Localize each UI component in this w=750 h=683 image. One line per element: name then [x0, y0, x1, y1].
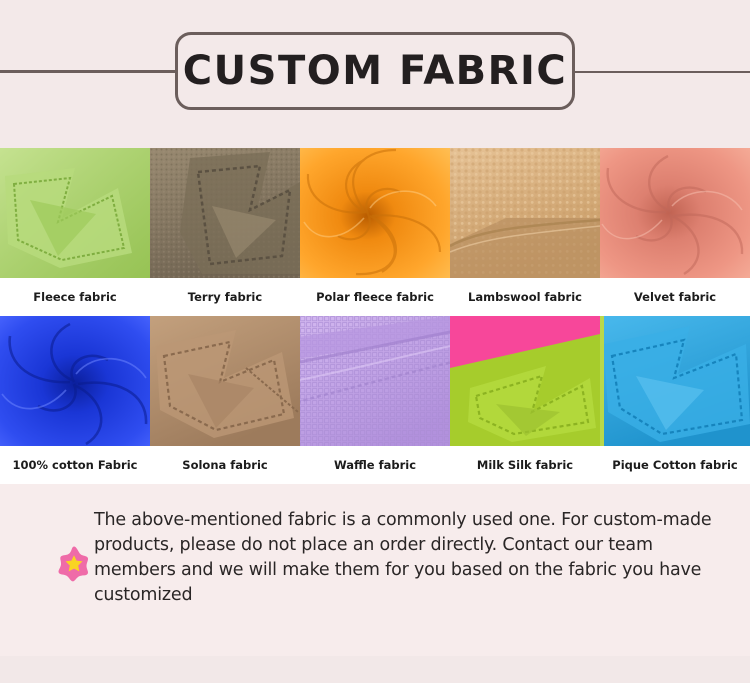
fabric-label: Solona fabric	[179, 459, 270, 472]
fabric-label: Fleece fabric	[30, 291, 119, 304]
fabric-caption: Pique Cotton fabric	[600, 446, 750, 484]
star-icon	[54, 544, 94, 584]
milk-silk-fabric-image	[450, 316, 600, 446]
fabric-cell-fleece[interactable]: Fleece fabric	[0, 148, 150, 316]
fabric-label: Pique Cotton fabric	[609, 459, 740, 472]
fabric-caption: Milk Silk fabric	[450, 446, 600, 484]
fabric-cell-cotton[interactable]: 100% cotton Fabric	[0, 316, 150, 484]
fabric-cell-waffle[interactable]: Waffle fabric	[300, 316, 450, 484]
fabric-cell-terry[interactable]: Terry fabric	[150, 148, 300, 316]
fabric-caption: Lambswool fabric	[450, 278, 600, 316]
fabric-cell-polar-fleece[interactable]: Polar fleece fabric	[300, 148, 450, 316]
terry-fabric-swatch	[150, 148, 300, 278]
fabric-label: Waffle fabric	[331, 459, 419, 472]
page-title: CUSTOM FABRIC	[183, 51, 567, 91]
polar-fleece-fabric-image	[300, 148, 450, 278]
polar-fleece-fabric-swatch	[300, 148, 450, 278]
solona-fabric-swatch	[150, 316, 300, 446]
velvet-fabric-swatch	[600, 148, 750, 278]
note-text: The above-mentioned fabric is a commonly…	[94, 508, 732, 607]
fabric-label: Velvet fabric	[631, 291, 719, 304]
fabric-cell-pique-cotton[interactable]: Pique Cotton fabric	[600, 316, 750, 484]
fabric-caption: Polar fleece fabric	[300, 278, 450, 316]
fabric-label: 100% cotton Fabric	[10, 459, 141, 472]
fleece-fabric-image	[0, 148, 150, 278]
pique-cotton-fabric-image	[600, 316, 750, 446]
header-banner: CUSTOM FABRIC	[0, 0, 750, 148]
waffle-fabric-image	[300, 316, 450, 446]
fabric-cell-milk-silk[interactable]: Milk Silk fabric	[450, 316, 600, 484]
header-rule-left	[0, 70, 178, 73]
solona-fabric-image	[150, 316, 300, 446]
fleece-fabric-swatch	[0, 148, 150, 278]
fabric-caption: Waffle fabric	[300, 446, 450, 484]
fabric-grid: Fleece fabric	[0, 148, 750, 484]
lambswool-fabric-swatch	[450, 148, 600, 278]
fabric-row: 100% cotton Fabric	[0, 316, 750, 484]
fabric-label: Milk Silk fabric	[474, 459, 576, 472]
lambswool-fabric-image	[450, 148, 600, 278]
fabric-cell-velvet[interactable]: Velvet fabric	[600, 148, 750, 316]
fabric-caption: 100% cotton Fabric	[0, 446, 150, 484]
note-banner: The above-mentioned fabric is a commonly…	[0, 484, 750, 656]
fabric-caption: Fleece fabric	[0, 278, 150, 316]
waffle-fabric-swatch	[300, 316, 450, 446]
star-icon-graphic	[54, 544, 94, 584]
fabric-row: Fleece fabric	[0, 148, 750, 316]
fabric-cell-solona[interactable]: Solona fabric	[150, 316, 300, 484]
header-rule-right	[572, 71, 750, 73]
fabric-caption: Velvet fabric	[600, 278, 750, 316]
fabric-label: Lambswool fabric	[465, 291, 585, 304]
fabric-caption: Solona fabric	[150, 446, 300, 484]
terry-fabric-image	[150, 148, 300, 278]
pique-cotton-fabric-swatch	[600, 316, 750, 446]
custom-fabric-page: CUSTOM FABRIC	[0, 0, 750, 683]
fabric-label: Terry fabric	[185, 291, 265, 304]
page-title-pill: CUSTOM FABRIC	[175, 32, 575, 110]
velvet-fabric-image	[600, 148, 750, 278]
milk-silk-fabric-swatch	[450, 316, 600, 446]
fabric-cell-lambswool[interactable]: Lambswool fabric	[450, 148, 600, 316]
fabric-caption: Terry fabric	[150, 278, 300, 316]
cotton-fabric-image	[0, 316, 150, 446]
fabric-label: Polar fleece fabric	[313, 291, 437, 304]
cotton-fabric-swatch	[0, 316, 150, 446]
